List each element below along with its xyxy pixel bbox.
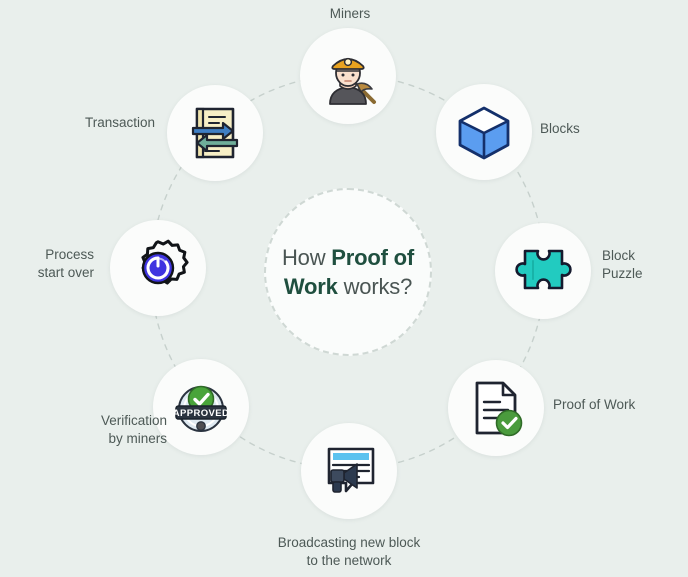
node-transaction[interactable] <box>167 85 263 181</box>
gear-restart-icon <box>126 236 190 300</box>
node-process-start-over[interactable] <box>110 220 206 316</box>
label-blocks: Blocks <box>540 120 580 138</box>
label-block-puzzle: Block Puzzle <box>602 247 643 283</box>
hub-title-suffix: works? <box>338 274 412 299</box>
infographic-canvas: Miners Blocks Block Puzzle Proof of Work <box>0 0 688 577</box>
hub-title-prefix: How <box>282 245 331 270</box>
puzzle-piece-icon <box>511 239 575 303</box>
miner-worker-icon <box>316 44 380 108</box>
node-block-puzzle[interactable] <box>495 223 591 319</box>
cube-block-icon <box>452 100 516 164</box>
label-broadcasting: Broadcasting new block to the network <box>238 534 460 570</box>
label-proof-of-work: Proof of Work <box>553 396 635 414</box>
approved-badge-icon: APPROVED <box>169 375 233 439</box>
label-verification: Verification by miners <box>20 412 167 448</box>
transaction-scroll-icon <box>183 101 247 165</box>
node-blocks[interactable] <box>436 84 532 180</box>
hub-circle: How Proof of Work works? <box>264 188 432 356</box>
document-check-icon <box>464 376 528 440</box>
node-proof-of-work[interactable] <box>448 360 544 456</box>
approved-badge-text: APPROVED <box>173 408 230 419</box>
node-miners[interactable] <box>300 28 396 124</box>
megaphone-broadcast-icon <box>317 439 381 503</box>
node-verification[interactable]: APPROVED <box>153 359 249 455</box>
node-broadcasting[interactable] <box>301 423 397 519</box>
label-miners: Miners <box>290 5 410 23</box>
label-transaction: Transaction <box>30 114 155 132</box>
label-process-start-over: Process start over <box>10 246 94 282</box>
hub-title: How Proof of Work works? <box>266 243 430 301</box>
